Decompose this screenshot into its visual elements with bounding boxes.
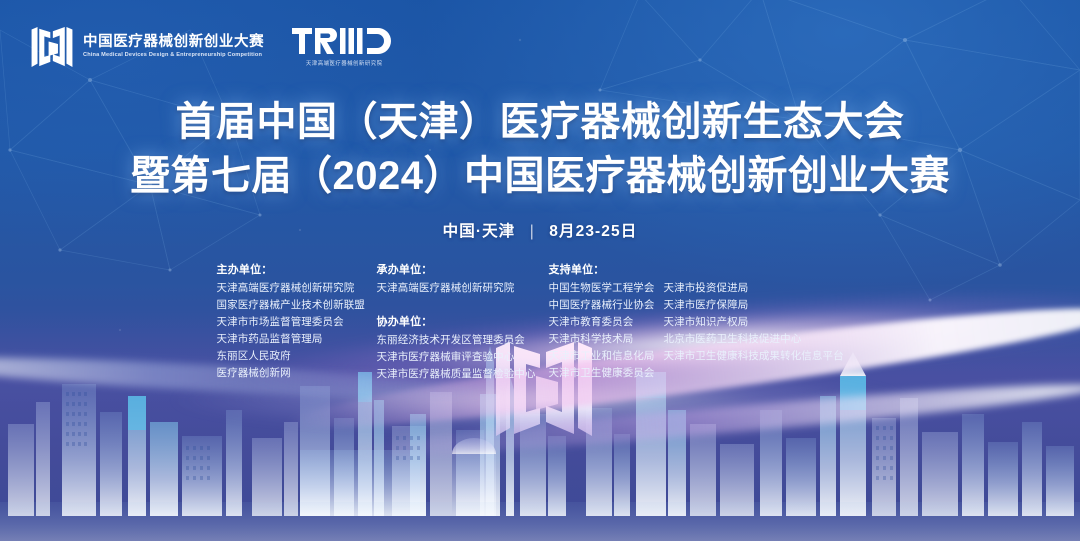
- organizer-column-undertakers: 承办单位： 天津高端医疗器械创新研究院 协办单位： 东丽经济技术开发区管理委员会…: [377, 262, 549, 383]
- supporter-item: 天津市卫生健康委员会: [549, 365, 664, 382]
- supporter-item: 北京市医药卫生科技促进中心: [664, 331, 864, 348]
- supporters-subcolumn-right-spacer: [664, 262, 864, 280]
- main-title-line-1: 首届中国（天津）医疗器械创新生态大会: [0, 96, 1080, 150]
- column-spacer: [377, 297, 549, 314]
- host-item: 医疗器械创新网: [217, 365, 377, 382]
- supporter-item: 天津市科学技术局: [549, 331, 664, 348]
- event-location: 中国·天津: [443, 223, 516, 240]
- supporter-item: 天津市医疗保障局: [664, 297, 864, 314]
- institute-name-cn: 天津高端医疗器械创新研究院: [306, 59, 383, 67]
- supporters-heading: 支持单位：: [549, 262, 664, 280]
- main-title-line-2: 暨第七届（2024）中国医疗器械创新创业大赛: [0, 150, 1080, 204]
- host-item: 东丽区人民政府: [217, 348, 377, 365]
- supporter-item: 天津市工业和信息化局: [549, 348, 664, 365]
- competition-name-en: China Medical Devices Design & Entrepren…: [83, 52, 264, 59]
- undertaker-item: 天津高端医疗器械创新研究院: [377, 280, 549, 297]
- supporter-item: 中国生物医学工程学会: [549, 280, 664, 297]
- undertakers-heading: 承办单位：: [377, 262, 549, 280]
- supporter-item: 天津市卫生健康科技成果转化信息平台: [664, 348, 864, 365]
- supporter-item: 天津市教育委员会: [549, 314, 664, 331]
- coorganizers-heading: 协办单位：: [377, 314, 549, 332]
- coorganizer-item: 东丽经济技术开发区管理委员会: [377, 332, 549, 349]
- coorganizer-item: 天津市医疗器械审评查验中心: [377, 349, 549, 366]
- organizer-columns: 主办单位： 天津高端医疗器械创新研究院 国家医疗器械产业技术创新联盟 天津市市场…: [0, 262, 1080, 383]
- organizer-column-hosts: 主办单位： 天津高端医疗器械创新研究院 国家医疗器械产业技术创新联盟 天津市市场…: [217, 262, 377, 383]
- poster-header: 中国医疗器械创新创业大赛 China Medical Devices Desig…: [30, 26, 396, 67]
- host-item: 国家医疗器械产业技术创新联盟: [217, 297, 377, 314]
- event-date: 8月23-25日: [549, 223, 637, 240]
- host-item: 天津高端医疗器械创新研究院: [217, 280, 377, 297]
- competition-brand-text: 中国医疗器械创新创业大赛 China Medical Devices Desig…: [83, 34, 264, 59]
- supporters-subcolumn-right: 天津市投资促进局 天津市医疗保障局 天津市知识产权局 北京市医药卫生科技促进中心…: [664, 262, 864, 383]
- supporter-item: 天津市知识产权局: [664, 314, 864, 331]
- triid-wordmark-icon: [292, 26, 396, 56]
- event-meta-line: 中国·天津 | 8月23-25日: [0, 219, 1080, 241]
- host-item: 天津市药品监督管理局: [217, 331, 377, 348]
- supporter-item: 中国医疗器械行业协会: [549, 297, 664, 314]
- poster-title-block: 首届中国（天津）医疗器械创新生态大会 暨第七届（2024）中国医疗器械创新创业大…: [0, 96, 1080, 241]
- supporters-subcolumn-left: 支持单位： 中国生物医学工程学会 中国医疗器械行业协会 天津市教育委员会 天津市…: [549, 262, 664, 383]
- competition-name-cn: 中国医疗器械创新创业大赛: [83, 34, 264, 51]
- host-item: 天津市市场监督管理委员会: [217, 314, 377, 331]
- coorganizer-item: 天津市医疗器械质量监督检验中心: [377, 366, 549, 383]
- conference-poster: 中国医疗器械创新创业大赛 China Medical Devices Desig…: [0, 0, 1080, 541]
- organizer-column-supporters: 支持单位： 中国生物医学工程学会 中国医疗器械行业协会 天津市教育委员会 天津市…: [549, 262, 864, 383]
- meta-separator: |: [530, 223, 535, 241]
- open-book-door-logo-mark-icon: [30, 27, 74, 67]
- supporter-item: 天津市投资促进局: [664, 280, 864, 297]
- hosts-heading: 主办单位：: [217, 262, 377, 280]
- competition-brand-lockup: 中国医疗器械创新创业大赛 China Medical Devices Desig…: [30, 27, 264, 67]
- institute-brand-lockup: 天津高端医疗器械创新研究院: [292, 26, 396, 67]
